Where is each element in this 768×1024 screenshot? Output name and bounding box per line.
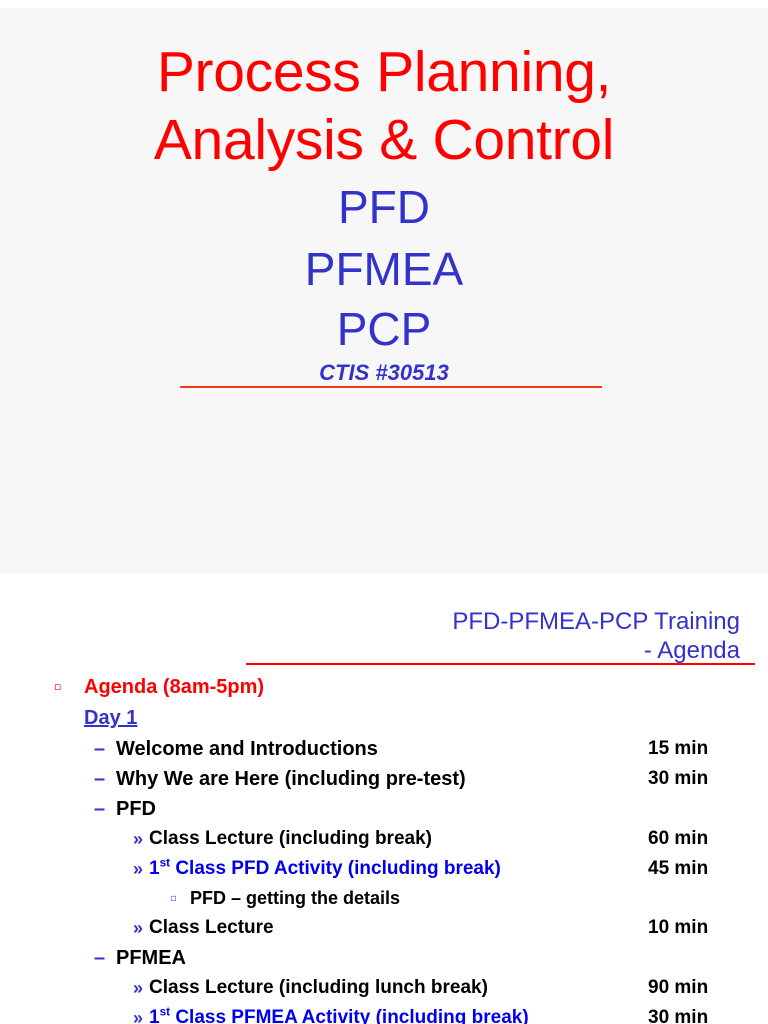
guillemet-bullet-icon: » [133,1008,143,1024]
dash-bullet-icon: – [94,768,105,791]
agenda-row: »Class Lecture (including break)60 min [0,828,768,858]
agenda-row-duration: 90 min [648,977,708,999]
subtitle-pfmea: PFMEA [0,238,768,300]
agenda-row-label: Day 1 [84,707,137,730]
agenda-row: –PFMEA [0,947,768,977]
dash-bullet-icon: – [94,947,105,970]
agenda-list: ▫Agenda (8am-5pm)Day 1–Welcome and Intro… [0,676,768,1024]
agenda-row: ▫Agenda (8am-5pm) [0,676,768,707]
guillemet-bullet-icon: » [133,829,143,850]
title-slide: Process Planning, Analysis & Control PFD… [0,8,768,573]
title-line-1: Process Planning, [0,38,768,106]
agenda-row-label: Agenda (8am-5pm) [84,676,264,699]
agenda-row-duration: 30 min [648,768,708,790]
subtitle-pfd: PFD [0,176,768,238]
guillemet-bullet-icon: » [133,859,143,880]
slide-title-heading: Process Planning, Analysis & Control [0,38,768,174]
agenda-row: Day 1 [0,707,768,738]
agenda-row: »1st Class PFD Activity (including break… [0,858,768,888]
subtitle-pcp: PCP [0,298,768,360]
agenda-row-label: PFD [116,798,156,821]
agenda-row-label: 1st Class PFD Activity (including break) [149,858,501,880]
agenda-divider-rule [246,663,755,665]
guillemet-bullet-icon: » [133,918,143,939]
agenda-header: PFD-PFMEA-PCP Training - Agenda [220,607,740,665]
title-line-2: Analysis & Control [0,106,768,174]
agenda-header-line-1: PFD-PFMEA-PCP Training [220,607,740,636]
agenda-row-label: Class Lecture (including lunch break) [149,977,488,999]
agenda-row-duration: 45 min [648,858,708,880]
agenda-row-label: 1st Class PFMEA Activity (including brea… [149,1007,529,1024]
title-divider-rule [180,386,602,388]
agenda-row: »Class Lecture (including lunch break)90… [0,977,768,1007]
agenda-row-duration: 10 min [648,917,708,939]
agenda-row-label: Class Lecture [149,917,274,939]
agenda-header-line-2: - Agenda [220,636,740,665]
course-code: CTIS #30513 [0,360,768,386]
guillemet-bullet-icon: » [133,978,143,999]
square-bullet-icon: ▫ [54,680,61,693]
agenda-row-duration: 30 min [648,1007,708,1024]
agenda-row: »Class Lecture10 min [0,917,768,947]
agenda-row: –PFD [0,798,768,828]
agenda-row: –Why We are Here (including pre-test)30 … [0,768,768,798]
agenda-slide: PFD-PFMEA-PCP Training - Agenda ▫Agenda … [0,573,768,1024]
agenda-row-label: PFMEA [116,947,186,970]
dash-bullet-icon: – [94,738,105,761]
agenda-row-duration: 15 min [648,738,708,760]
agenda-row-label: Welcome and Introductions [116,738,378,761]
agenda-row-label: Why We are Here (including pre-test) [116,768,466,791]
agenda-row: –Welcome and Introductions15 min [0,738,768,768]
agenda-row: ▫PFD – getting the details [0,888,768,917]
agenda-row-label: PFD – getting the details [190,888,400,909]
agenda-row: »1st Class PFMEA Activity (including bre… [0,1007,768,1024]
dash-bullet-icon: – [94,798,105,821]
agenda-row-duration: 60 min [648,828,708,850]
square-bullet-icon: ▫ [170,893,177,904]
agenda-row-label: Class Lecture (including break) [149,828,432,850]
